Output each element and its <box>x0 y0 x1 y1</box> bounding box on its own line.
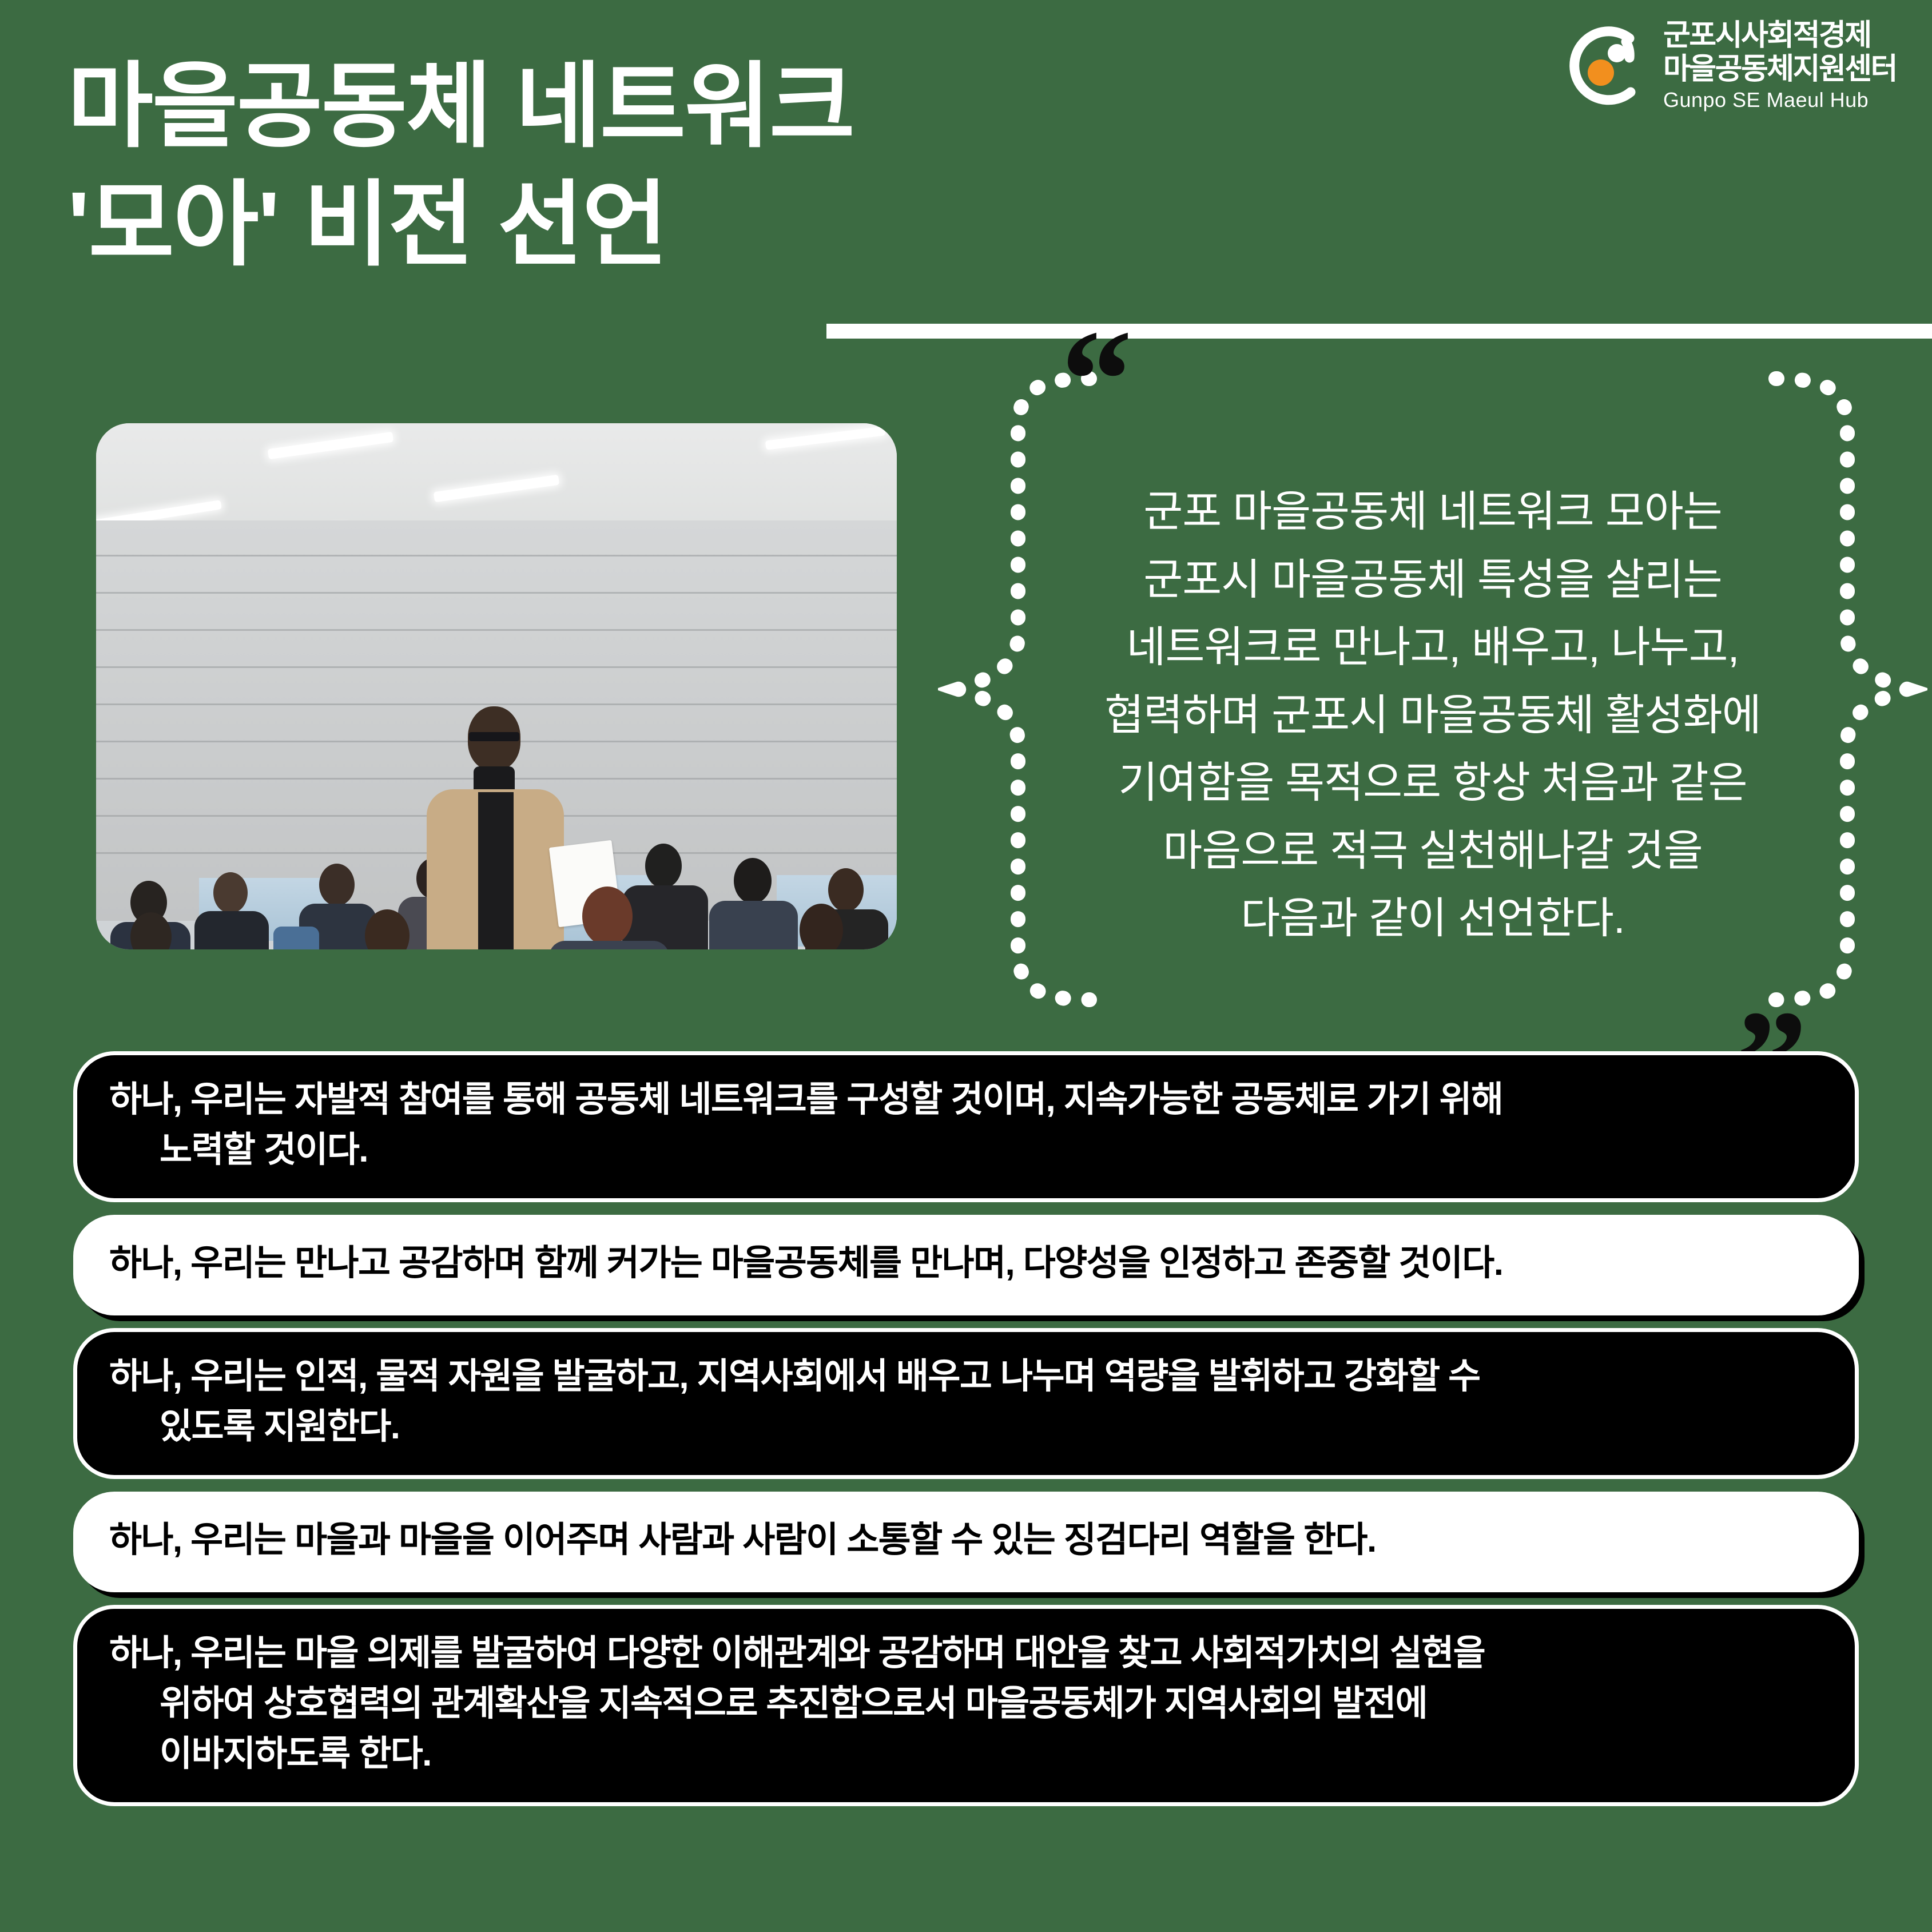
declaration-line: 이바지하도록 한다. <box>109 1729 1823 1779</box>
declaration-list: 하나, 우리는 자발적 참여를 통해 공동체 네트워크를 구성할 것이며, 지속… <box>73 1051 1859 1819</box>
declaration-item-2: 하나, 우리는 만나고 공감하며 함께 커가는 마을공동체를 만나며, 다양성을… <box>73 1215 1859 1315</box>
seminar-photo <box>96 423 897 949</box>
photo-chair-3 <box>273 927 319 949</box>
quote-text: 군포 마을공동체 네트워크 모아는 군포시 마을공동체 특성을 살리는 네트워크… <box>1041 478 1824 952</box>
declaration-line: 하나, 우리는 만나고 공감하며 함께 커가는 마을공동체를 만나며, 다양성을… <box>109 1238 1823 1289</box>
title-line-2: '모아' 비전 선언 <box>67 165 1154 284</box>
quote-line: 군포 마을공동체 네트워크 모아는 <box>1041 478 1824 546</box>
quote-open-mark: “ <box>1061 309 1132 452</box>
logo-korean-line-2: 마을공동체지원센터 <box>1663 54 1897 84</box>
circle-community-icon <box>1562 21 1651 110</box>
declaration-line: 하나, 우리는 자발적 참여를 통해 공동체 네트워크를 구성할 것이며, 지속… <box>109 1075 1823 1125</box>
organization-logo: 군포시사회적경제 마을공동체지원센터 Gunpo SE Maeul Hub <box>1562 21 1897 110</box>
quote-line: 협력하며 군포시 마을공동체 활성화에 <box>1041 681 1824 749</box>
quote-line: 기여함을 목적으로 항상 처음과 같은 <box>1041 749 1824 817</box>
logo-english-line: Gunpo SE Maeul Hub <box>1663 90 1897 110</box>
title-divider-rule <box>826 324 1932 339</box>
declaration-item-3: 하나, 우리는 인적, 물적 자원을 발굴하고, 지역사회에서 배우고 나누며 … <box>73 1328 1859 1479</box>
poster-canvas: 마을공동체 네트워크 '모아' 비전 선언 군포시사회적경제 마을공동체지원센터… <box>0 0 1932 1932</box>
quote-line: 다음과 같이 선언한다. <box>1041 884 1824 952</box>
page-title: 마을공동체 네트워크 '모아' 비전 선언 <box>67 47 1154 284</box>
declaration-line: 하나, 우리는 인적, 물적 자원을 발굴하고, 지역사회에서 배우고 나누며 … <box>109 1351 1823 1402</box>
declaration-item-5: 하나, 우리는 마을 의제를 발굴하여 다양한 이해관계와 공감하며 대안을 찾… <box>73 1605 1859 1806</box>
declaration-line: 하나, 우리는 마을 의제를 발굴하여 다양한 이해관계와 공감하며 대안을 찾… <box>109 1628 1823 1679</box>
title-line-1: 마을공동체 네트워크 <box>67 47 1154 165</box>
declaration-item-1: 하나, 우리는 자발적 참여를 통해 공동체 네트워크를 구성할 것이며, 지속… <box>73 1051 1859 1202</box>
declaration-line: 있도록 지원한다. <box>109 1402 1823 1452</box>
quote-line: 군포시 마을공동체 특성을 살리는 <box>1041 546 1824 614</box>
vision-quote-block: “ ” 군포 마을공동체 네트워크 모아는 군포시 마을공동체 특성을 살리는 … <box>938 366 1927 1012</box>
declaration-line: 위하여 상호협력의 관계확산을 지속적으로 추진함으로서 마을공동체가 지역사회… <box>109 1679 1823 1729</box>
logo-korean-line-1: 군포시사회적경제 <box>1663 21 1897 50</box>
declaration-line: 노력할 것이다. <box>109 1125 1823 1175</box>
declaration-item-4: 하나, 우리는 마을과 마을을 이어주며 사람과 사람이 소통할 수 있는 징검… <box>73 1492 1859 1592</box>
quote-line: 마음으로 적극 실천해나갈 것을 <box>1041 817 1824 885</box>
quote-line: 네트워크로 만나고, 배우고, 나누고, <box>1041 613 1824 681</box>
declaration-line: 하나, 우리는 마을과 마을을 이어주며 사람과 사람이 소통할 수 있는 징검… <box>109 1515 1823 1565</box>
